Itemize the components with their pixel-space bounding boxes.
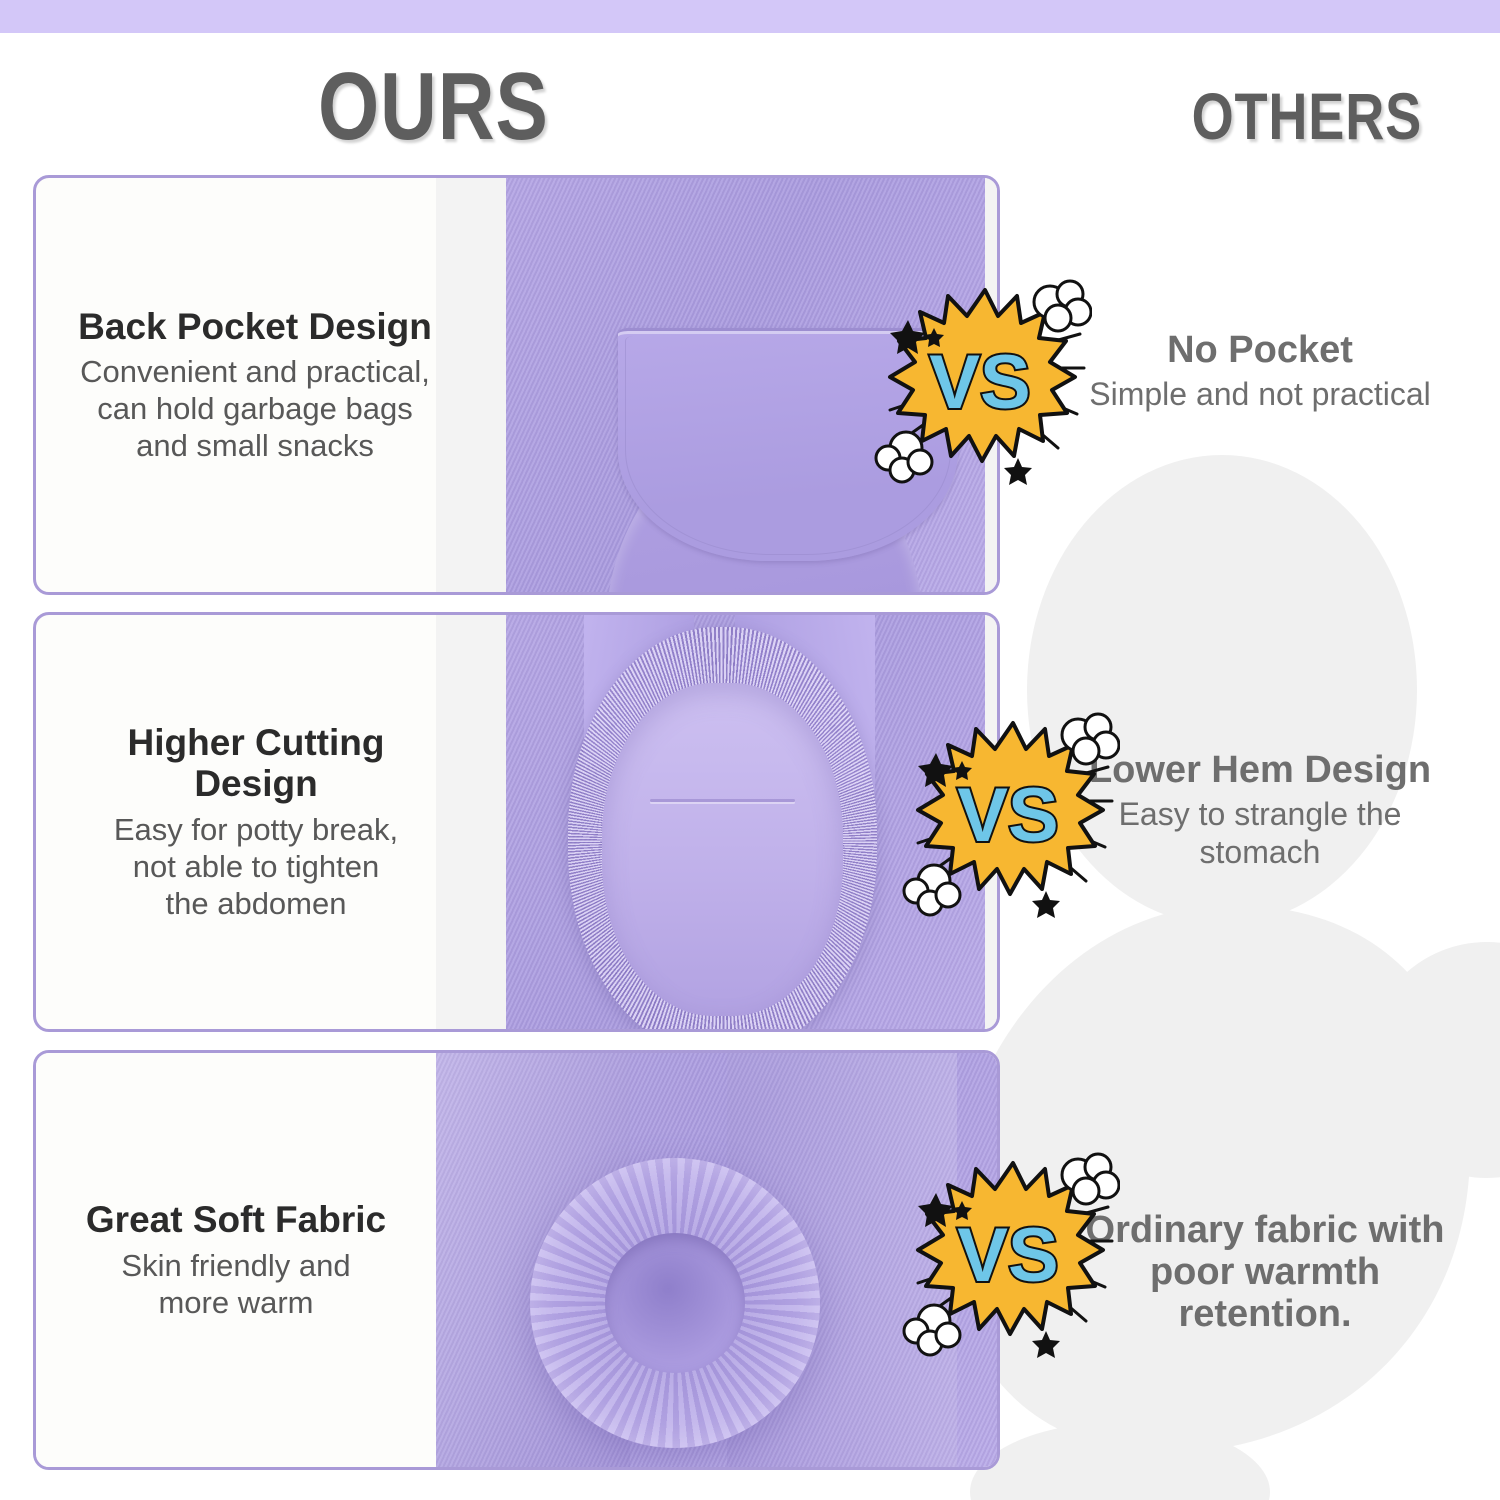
vs-burst-icon-2: VS bbox=[900, 705, 1120, 925]
comparison-card-1: Back Pocket Design Convenient and practi… bbox=[33, 175, 1000, 595]
fabric-swirl bbox=[530, 1158, 820, 1448]
comparison-card-3: Great Soft Fabric Skin friendly andmore … bbox=[33, 1050, 1000, 1470]
others-title-1: No Pocket bbox=[1035, 330, 1485, 372]
comparison-infographic: OURS OTHERS Back Pocket Design Convenien… bbox=[0, 0, 1500, 1500]
ours-title-3: Great Soft Fabric bbox=[86, 1199, 386, 1240]
comparison-card-2: Higher CuttingDesign Easy for potty brea… bbox=[33, 612, 1000, 1032]
others-block-1: No Pocket Simple and not practical bbox=[1035, 330, 1485, 414]
page-title-ours: OURS bbox=[318, 52, 549, 162]
card-2-text: Higher CuttingDesign Easy for potty brea… bbox=[36, 615, 476, 1029]
fleece-lining bbox=[602, 683, 843, 1017]
card-1-text: Back Pocket Design Convenient and practi… bbox=[36, 178, 474, 592]
top-banner bbox=[0, 0, 1500, 33]
ours-subtitle-3: Skin friendly andmore warm bbox=[121, 1247, 350, 1321]
card-3-text: Great Soft Fabric Skin friendly andmore … bbox=[36, 1053, 436, 1467]
vs-burst-icon-1: VS bbox=[872, 272, 1092, 492]
others-subtitle-1: Simple and not practical bbox=[1035, 376, 1485, 414]
ribbed-hem bbox=[568, 627, 877, 1029]
ours-title-2: Higher CuttingDesign bbox=[128, 722, 385, 805]
vs-burst-icon-3: VS bbox=[900, 1145, 1120, 1365]
ours-title-1: Back Pocket Design bbox=[78, 306, 432, 347]
page-title-others: OTHERS bbox=[1192, 78, 1422, 154]
vs-label-2: VS bbox=[957, 773, 1058, 858]
vs-label-1: VS bbox=[929, 340, 1030, 425]
vs-label-3: VS bbox=[957, 1213, 1058, 1298]
fabric-fold-line bbox=[650, 799, 795, 802]
ours-subtitle-1: Convenient and practical,can hold garbag… bbox=[80, 353, 430, 465]
ours-subtitle-2: Easy for potty break,not able to tighten… bbox=[114, 811, 398, 923]
